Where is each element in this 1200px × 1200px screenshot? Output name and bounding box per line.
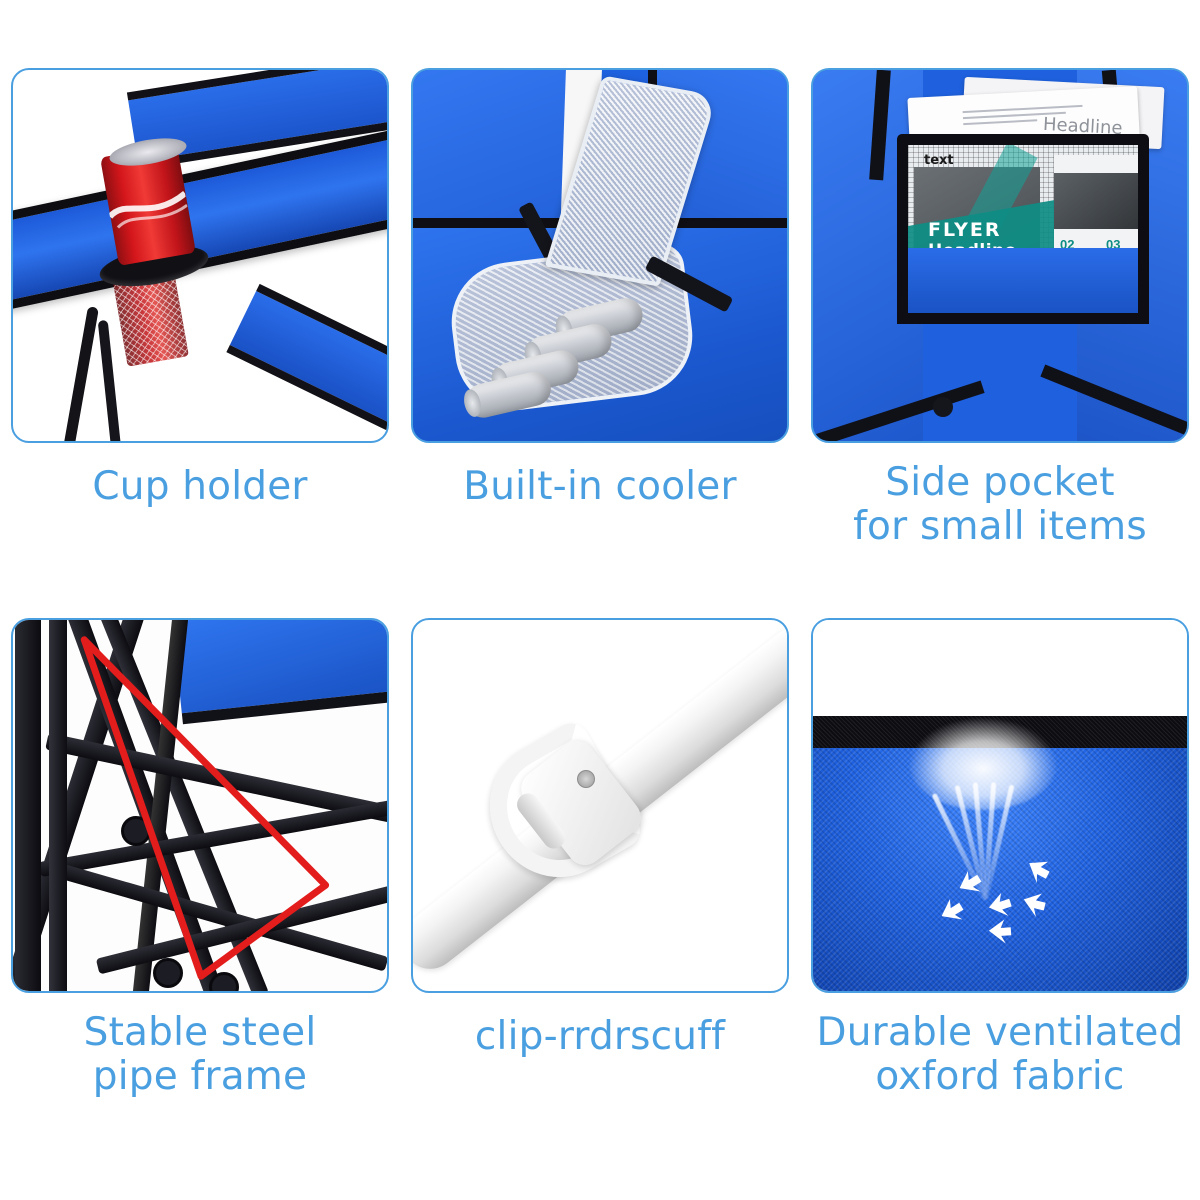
caption-cup-holder: Cup holder xyxy=(5,465,395,509)
caption-line: Stable steel xyxy=(5,1011,395,1055)
chair-leg xyxy=(62,306,99,443)
red-triangle-highlight xyxy=(13,620,387,991)
chair-leg-secondary xyxy=(98,320,123,443)
feature-cell-clip: clip-rrdrscuff xyxy=(400,618,800,1168)
background-white xyxy=(813,620,1187,716)
caption-steel-pipe-frame: Stable steel pipe frame xyxy=(5,1011,395,1098)
flyer-photo-block xyxy=(1054,173,1149,229)
photo-steel-pipe-frame xyxy=(11,618,389,993)
caption-line: pipe frame xyxy=(5,1055,395,1099)
frame-joint-knob xyxy=(933,397,953,417)
photo-oxford-fabric xyxy=(811,618,1189,993)
caption-line: Durable ventilated xyxy=(805,1011,1195,1055)
caption-line: oxford fabric xyxy=(805,1055,1195,1099)
feature-cell-cup-holder: Cup holder xyxy=(0,68,400,618)
feature-cell-oxford-fabric: Durable ventilated oxford fabric xyxy=(800,618,1200,1168)
feature-cell-side-pocket: Headline text FLYER Headline SPACE 02 03 xyxy=(800,68,1200,618)
caption-clip: clip-rrdrscuff xyxy=(405,1015,795,1059)
caption-built-in-cooler: Built-in cooler xyxy=(405,465,795,509)
feature-cell-steel-pipe-frame: Stable steel pipe frame xyxy=(0,618,400,1168)
feature-cell-built-in-cooler: Built-in cooler xyxy=(400,68,800,618)
photo-cup-holder xyxy=(11,68,389,443)
caption-line: for small items xyxy=(805,505,1195,549)
pocket-flap xyxy=(897,248,1149,324)
photo-clip xyxy=(411,618,789,993)
caption-line: Side pocket xyxy=(805,461,1195,505)
airflow-arrows xyxy=(931,846,1061,946)
clip-screw xyxy=(577,770,595,788)
caption-line: clip-rrdrscuff xyxy=(405,1015,795,1059)
caption-side-pocket: Side pocket for small items xyxy=(805,461,1195,548)
photo-side-pocket: Headline text FLYER Headline SPACE 02 03 xyxy=(811,68,1189,443)
caption-line: Built-in cooler xyxy=(405,465,795,509)
photo-built-in-cooler xyxy=(411,68,789,443)
feature-grid: Cup holder Built xyxy=(0,0,1200,1200)
vapor-cloud xyxy=(909,718,1057,810)
caption-line: Cup holder xyxy=(5,465,395,509)
flyer-title: FLYER xyxy=(928,219,1002,241)
flyer-text-label: text xyxy=(924,153,954,168)
chair-side-bar xyxy=(226,284,389,443)
caption-oxford-fabric: Durable ventilated oxford fabric xyxy=(805,1011,1195,1098)
